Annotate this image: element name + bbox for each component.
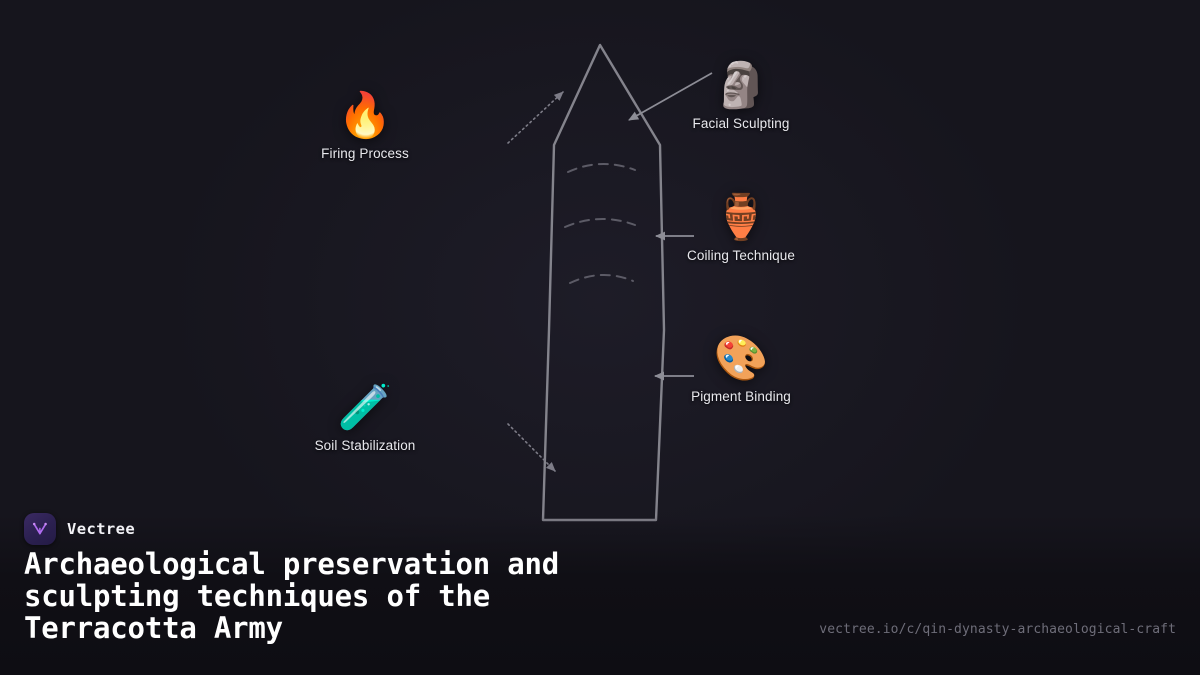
moai-icon: 🗿: [714, 60, 769, 112]
node-label: Pigment Binding: [691, 389, 791, 404]
warrior-outline: [543, 45, 664, 520]
slide-canvas: 🔥 Firing Process 🧪 Soil Stabilization 🗿 …: [0, 0, 1200, 675]
node-label: Firing Process: [321, 146, 409, 161]
node-label: Coiling Technique: [687, 248, 795, 263]
page-title: Archaeological preservation and sculptin…: [24, 548, 784, 644]
site-url: vectree.io/c/qin-dynasty-archaeological-…: [819, 622, 1176, 637]
node-label: Soil Stabilization: [315, 438, 416, 453]
connector-soil: [508, 424, 555, 471]
vectree-logo-icon: [24, 513, 56, 545]
brand[interactable]: Vectree: [24, 513, 135, 545]
palette-icon: 🎨: [714, 333, 769, 385]
node-firing-process[interactable]: 🔥 Firing Process: [285, 90, 445, 161]
robe-fold-arc-3: [570, 275, 633, 283]
robe-fold-arc-1: [568, 164, 635, 172]
fire-icon: 🔥: [338, 90, 393, 142]
node-facial-sculpting[interactable]: 🗿 Facial Sculpting: [661, 60, 821, 131]
brand-name: Vectree: [67, 520, 135, 538]
node-soil-stabilization[interactable]: 🧪 Soil Stabilization: [285, 382, 445, 453]
amphora-icon: 🏺: [714, 192, 769, 244]
node-label: Facial Sculpting: [693, 116, 790, 131]
node-coiling-technique[interactable]: 🏺 Coiling Technique: [661, 192, 821, 263]
connector-firing: [508, 92, 563, 143]
node-pigment-binding[interactable]: 🎨 Pigment Binding: [661, 333, 821, 404]
test-tube-icon: 🧪: [338, 382, 393, 434]
robe-fold-arc-2: [565, 219, 635, 227]
